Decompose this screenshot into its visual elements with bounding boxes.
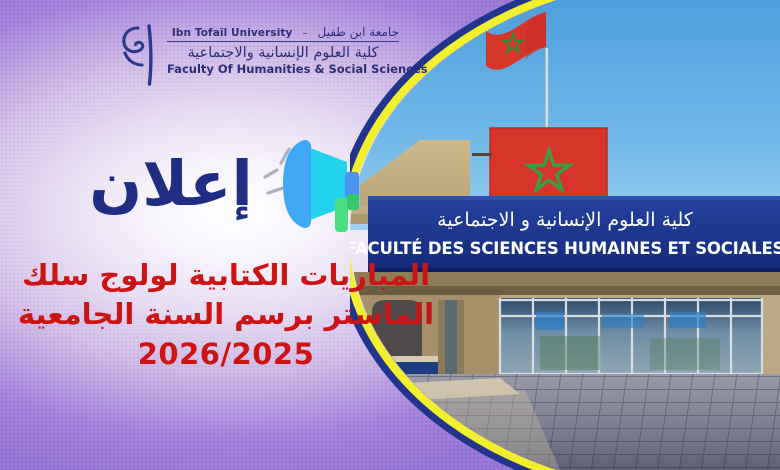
announcement-line-2: الماستر برسم السنة الجامعية	[0, 295, 452, 334]
megaphone-icon	[259, 132, 363, 236]
university-name-ar: جامعة ابن طفيل	[318, 25, 400, 39]
university-line: Ibn Tofaïl University – جامعة ابن طفيل	[167, 25, 399, 39]
brand-divider	[167, 41, 399, 42]
brand-text-block: Ibn Tofaïl University – جامعة ابن طفيل ك…	[167, 22, 399, 76]
sign-arabic-text: كلية العلوم الإنسانية و الاجتماعية	[437, 209, 694, 231]
faculty-name-en: Faculty Of Humanities & Social Sciences	[167, 62, 399, 76]
university-name-en: Ibn Tofaïl University	[172, 27, 293, 39]
announcement-text-block: المباريات الكتابية لولوج سلك الماستر برس…	[0, 256, 452, 377]
announcement-line-1: المباريات الكتابية لولوج سلك	[0, 256, 452, 295]
ibn-tofail-calligraphy-mark	[118, 22, 158, 92]
headline-row: إعلان	[0, 128, 452, 240]
announcement-poster: كلية العلوم الإنسانية و الاجتماعية FACUL…	[0, 0, 780, 470]
brand-lockup: Ibn Tofaïl University – جامعة ابن طفيل ك…	[118, 22, 399, 92]
academic-year: 2026/2025	[0, 333, 452, 377]
faculty-name-ar: كلية العلوم الإنسانية والاجتماعية	[167, 45, 399, 61]
headline-text: إعلان	[89, 153, 253, 215]
brand-separator: –	[303, 28, 308, 39]
